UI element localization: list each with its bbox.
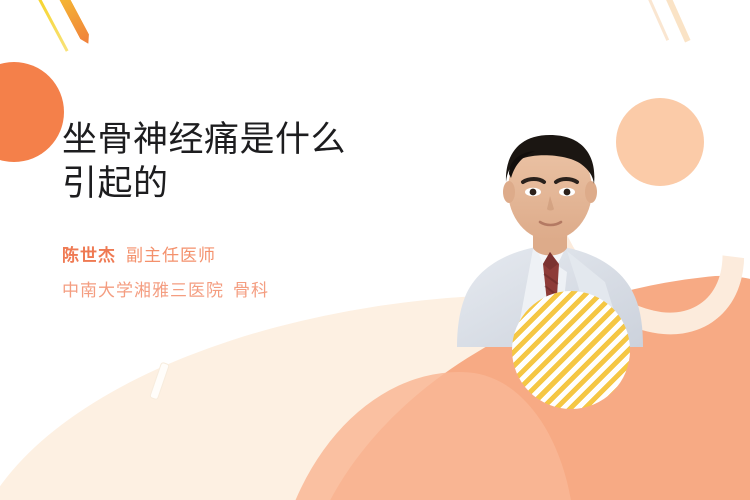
- bottom-outline-stripe-shape: [149, 362, 170, 401]
- doctor-title: 副主任医师: [126, 246, 216, 265]
- top-right-cream-stripe-b-shape: [659, 0, 691, 42]
- hospital-name: 中南大学湘雅三医院: [62, 281, 224, 300]
- top-right-cream-stripe-a-shape: [642, 0, 669, 41]
- doctor-byline: 陈世杰副主任医师 中南大学湘雅三医院骨科: [62, 247, 269, 300]
- left-orange-circle-shape: [0, 62, 64, 162]
- top-left-yellow-stripe-shape: [33, 0, 69, 52]
- department-name: 骨科: [233, 281, 269, 300]
- doctor-affiliation-row: 中南大学湘雅三医院骨科: [62, 282, 269, 301]
- page-title: 坐骨神经痛是什么 引起的: [62, 118, 422, 206]
- video-cover-card: 坐骨神经痛是什么 引起的 陈世杰副主任医师 中南大学湘雅三医院骨科: [0, 0, 750, 500]
- bottom-right-peach-overlay-shape: [272, 360, 588, 500]
- doctor-name-row: 陈世杰副主任医师: [62, 247, 269, 266]
- doctor-portrait: [455, 112, 645, 347]
- doctor-name: 陈世杰: [62, 246, 116, 265]
- top-left-orange-stripe-shape: [52, 0, 93, 46]
- headline-block: 坐骨神经痛是什么 引起的: [62, 118, 422, 206]
